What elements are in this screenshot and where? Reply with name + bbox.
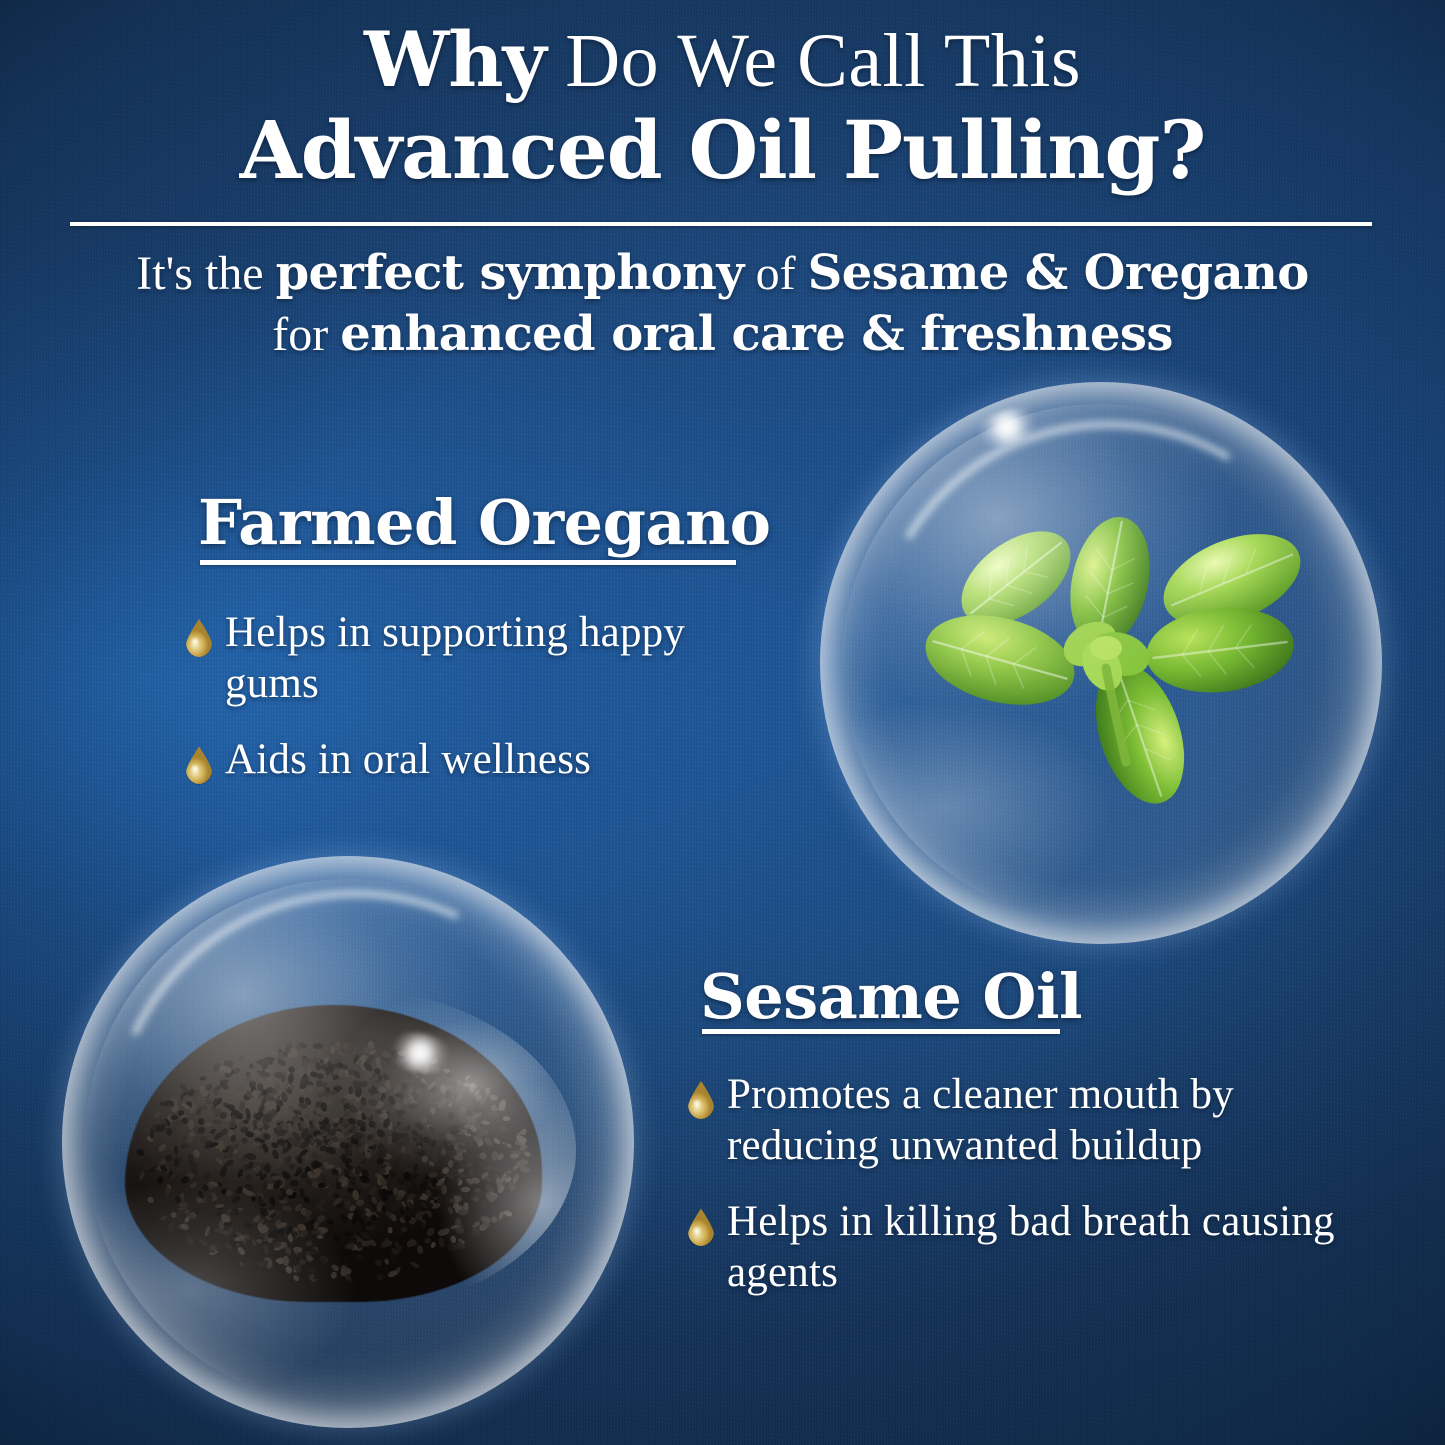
oil-droplet-icon [688, 1081, 714, 1119]
subtitle-l1-c: of [744, 247, 808, 300]
page-title: Why Do We Call This Advanced Oil Pulling… [0, 20, 1445, 192]
oil-droplet-icon [688, 1208, 714, 1246]
subtitle-l1-b: perfect symphony [276, 245, 744, 301]
list-item: Promotes a cleaner mouth by reducing unw… [688, 1070, 1348, 1171]
subtitle-l1-d: Sesame & Oregano [808, 245, 1309, 301]
infographic-poster: Why Do We Call This Advanced Oil Pulling… [0, 0, 1445, 1445]
section-divider-oregano [200, 560, 736, 565]
header-divider [70, 222, 1372, 226]
list-item-label: Helps in killing bad breath causing agen… [714, 1197, 1348, 1298]
list-item-label: Aids in oral wellness [212, 735, 591, 786]
sesame-bubble-image [62, 856, 634, 1428]
bullet-list-sesame: Promotes a cleaner mouth by reducing unw… [688, 1070, 1348, 1325]
list-item-label: Promotes a cleaner mouth by reducing unw… [714, 1070, 1348, 1171]
oregano-bubble-image [820, 382, 1382, 944]
list-item: Helps in supporting happy gums [186, 608, 726, 709]
subtitle-l2-a: for [272, 308, 340, 361]
oil-droplet-icon [186, 619, 212, 657]
subtitle: It's the perfect symphony of Sesame & Or… [60, 243, 1385, 366]
headline-line-2: Advanced Oil Pulling? [0, 109, 1445, 192]
bullet-list-oregano: Helps in supporting happy gums Aids in o… [186, 608, 726, 812]
list-item: Helps in killing bad breath causing agen… [688, 1197, 1348, 1298]
headline-line-1: Why Do We Call This [0, 20, 1445, 101]
subtitle-l2-b: enhanced oral care & freshness [340, 306, 1173, 362]
list-item-label: Helps in supporting happy gums [212, 608, 726, 709]
section-heading-sesame: Sesame Oil [700, 960, 1082, 1033]
section-heading-oregano: Farmed Oregano [198, 486, 771, 559]
subtitle-line-2: for enhanced oral care & freshness [60, 304, 1385, 365]
headline-word-why: Why [364, 15, 546, 104]
oil-droplet-icon [186, 746, 212, 784]
list-item: Aids in oral wellness [186, 735, 726, 786]
section-divider-sesame [702, 1029, 1060, 1034]
subtitle-l1-a: It's the [136, 247, 275, 300]
headline-line-1-rest: Do We Call This [546, 19, 1081, 103]
subtitle-line-1: It's the perfect symphony of Sesame & Or… [60, 243, 1385, 304]
